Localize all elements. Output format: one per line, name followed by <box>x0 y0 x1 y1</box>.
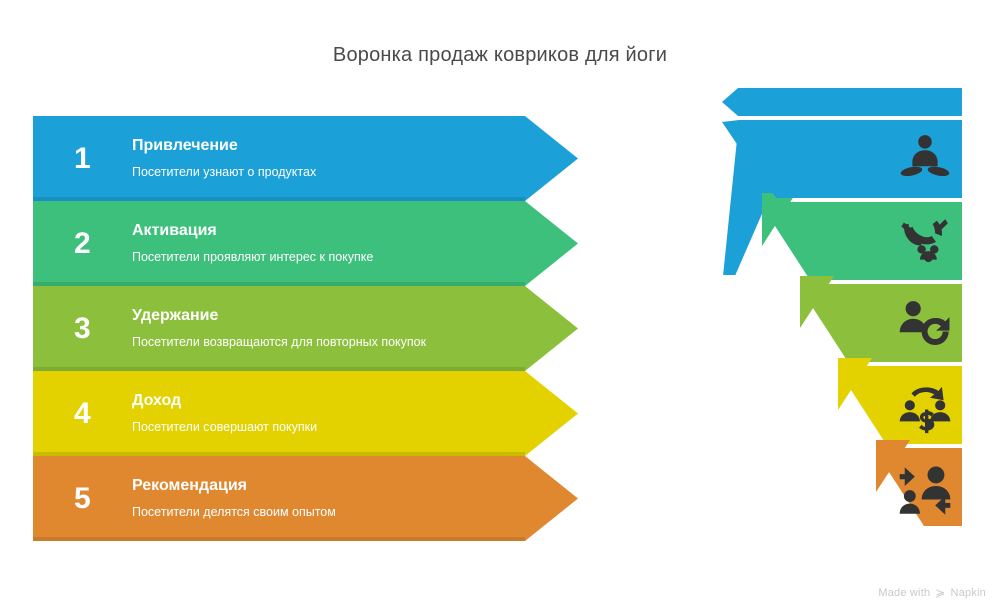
referral-people-icon <box>898 464 952 518</box>
stage-row-1[interactable]: 1 Привлечение Посетители узнают о продук… <box>33 116 578 201</box>
funnel-diagram <box>700 80 990 550</box>
stage-row-5[interactable]: 5 Рекомендация Посетители делятся своим … <box>33 456 578 541</box>
stage-text-2: Активация Посетители проявляют интерес к… <box>132 201 507 286</box>
watermark-brand: Napkin <box>951 587 986 599</box>
page-title: Воронка продаж ковриков для йоги <box>0 44 1000 67</box>
funnel-infographic: Воронка продаж ковриков для йоги 1 Привл… <box>0 0 1000 611</box>
napkin-logo-icon: ≽ <box>935 587 945 599</box>
stage-label-1: Привлечение <box>132 136 507 155</box>
napkin-watermark: Made with ≽ Napkin <box>878 587 986 599</box>
stage-description-4: Посетители совершают покупки <box>132 418 507 436</box>
stage-label-3: Удержание <box>132 306 507 325</box>
stage-text-3: Удержание Посетители возвращаются для по… <box>132 286 507 371</box>
stage-label-5: Рекомендация <box>132 476 507 495</box>
stage-row-3[interactable]: 3 Удержание Посетители возвращаются для … <box>33 286 578 371</box>
stage-description-5: Посетители делятся своим опытом <box>132 503 507 521</box>
hands-engagement-icon <box>898 214 952 268</box>
stage-description-2: Посетители проявляют интерес к покупке <box>132 248 507 266</box>
stage-label-2: Активация <box>132 221 507 240</box>
stage-label-4: Доход <box>132 391 507 410</box>
person-return-icon <box>898 296 952 350</box>
stage-description-1: Посетители узнают о продуктах <box>132 163 507 181</box>
stage-text-4: Доход Посетители совершают покупки <box>132 371 507 456</box>
stage-number-4: 4 <box>74 371 91 456</box>
stage-row-4[interactable]: 4 Доход Посетители совершают покупки <box>33 371 578 456</box>
stage-text-1: Привлечение Посетители узнают о продукта… <box>132 116 507 201</box>
stage-number-5: 5 <box>74 456 91 541</box>
stage-number-2: 2 <box>74 201 91 286</box>
stage-row-2[interactable]: 2 Активация Посетители проявляют интерес… <box>33 201 578 286</box>
stage-number-1: 1 <box>74 116 91 201</box>
money-exchange-icon <box>898 380 952 434</box>
stage-list: 1 Привлечение Посетители узнают о продук… <box>33 116 578 541</box>
person-meditating-icon <box>898 130 952 184</box>
watermark-prefix: Made with <box>878 587 930 599</box>
stage-text-5: Рекомендация Посетители делятся своим оп… <box>132 456 507 541</box>
stage-description-3: Посетители возвращаются для повторных по… <box>132 333 507 351</box>
stage-number-3: 3 <box>74 286 91 371</box>
funnel-cap-band <box>722 88 962 116</box>
